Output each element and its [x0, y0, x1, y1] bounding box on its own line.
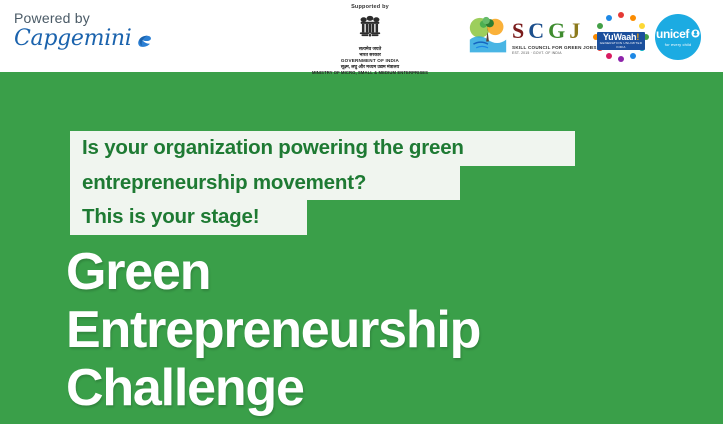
scgj-subtagline: EST. 2015 · GOVT. OF INDIA	[512, 51, 597, 55]
scgj-tree-sun-icon	[468, 16, 508, 56]
unicef-logo: unicef for every child	[655, 14, 701, 60]
unicef-tagline: for every child	[665, 42, 691, 47]
yuwaah-logo: YuWaah! GENERATION UNLIMITED INDIA	[592, 12, 650, 62]
subheading-line-2: entrepreneurship movement?	[70, 166, 460, 201]
scgj-letter-c: C	[528, 20, 544, 42]
capgemini-swirl-icon	[135, 32, 152, 49]
title-line-1: Green	[66, 243, 480, 301]
scgj-letter-j: J	[569, 20, 580, 42]
ministry-english-label: MINISTRY OF MICRO, SMALL & MEDIUM ENTERP…	[295, 70, 445, 76]
government-of-india-logo: Supported by	[295, 4, 445, 76]
capgemini-wordmark: Capgemini	[14, 28, 132, 50]
scgj-logo: S C G J SKILL COUNCIL FOR GREEN JOBS EST…	[468, 16, 597, 56]
scgj-letters: S C G J	[512, 18, 597, 44]
scgj-letter-s: S	[512, 20, 524, 42]
unicef-wordmark: unicef	[656, 28, 689, 40]
scgj-letter-g: G	[548, 20, 565, 42]
subheading-line-3: This is your stage!	[70, 200, 307, 235]
subheading-block: Is your organization powering the green …	[70, 131, 575, 235]
scgj-tagline: SKILL COUNCIL FOR GREEN JOBS	[512, 45, 597, 50]
unicef-mother-child-icon	[691, 29, 700, 38]
supported-by-label: Supported by	[295, 4, 445, 11]
title-line-2: Entrepreneurship	[66, 301, 480, 359]
india-state-emblem-icon	[353, 12, 387, 46]
subheading-line-1: Is your organization powering the green	[70, 131, 575, 166]
yuwaah-name-badge: YuWaah! GENERATION UNLIMITED INDIA	[597, 32, 645, 50]
poster-canvas: Powered by Capgemini Supported by	[0, 0, 723, 424]
capgemini-logo: Powered by Capgemini	[14, 10, 174, 50]
title-line-3: Challenge	[66, 359, 480, 417]
powered-by-label: Powered by	[14, 10, 174, 26]
yuwaah-subtitle: GENERATION UNLIMITED INDIA	[597, 42, 645, 49]
page-title: Green Entrepreneurship Challenge	[66, 243, 480, 418]
partner-logo-header: Powered by Capgemini Supported by	[0, 0, 723, 72]
